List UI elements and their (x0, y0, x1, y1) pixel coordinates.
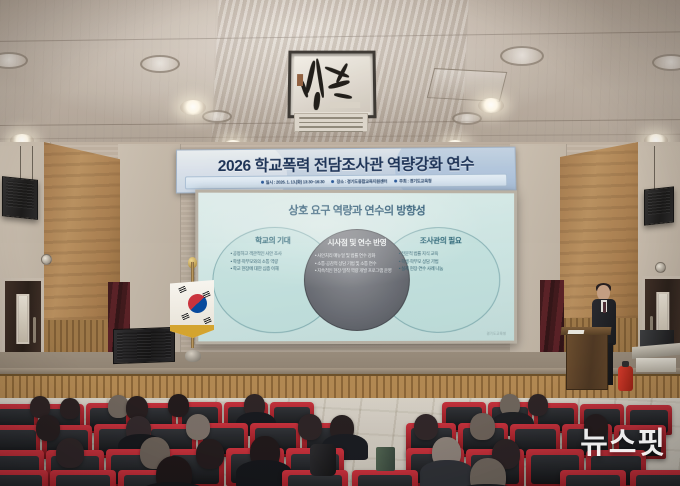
venn-group-investigator-needs: 조사관의 필요 전문적 법률 지식 교육 학생·학부모 상담 기법 실제 현장·… (389, 235, 492, 273)
seat[interactable] (560, 470, 626, 486)
banner-subinfo-host: 주최 : 경기도교육청 (394, 178, 431, 184)
podium-papers (568, 330, 585, 334)
event-banner: 2026 학교폭력 전담조사관 역량강화 연수 일시 : 2026. 1. 13… (176, 147, 517, 194)
venn-title-right: 조사관의 필요 (389, 235, 492, 246)
attendee-shoulders (420, 460, 474, 486)
speaker-wire (654, 146, 655, 190)
downlight-lit-icon (180, 100, 206, 115)
speaker-grille (6, 181, 34, 210)
attendee-bag (310, 444, 336, 476)
wall-fixture-icon (655, 262, 666, 273)
av-equipment-case (636, 358, 676, 372)
wall-fixture-icon (41, 254, 52, 265)
attendee-head (168, 394, 189, 417)
attendee-head (56, 438, 84, 468)
downlight-lit-icon (478, 98, 504, 113)
trash-bin (376, 447, 395, 471)
ceiling (0, 0, 680, 146)
hatch-interior (294, 56, 371, 112)
auditorium-photo: 2026 학교폭력 전담조사관 역량강화 연수 일시 : 2026. 1. 13… (0, 0, 680, 486)
downlight-icon (500, 46, 544, 66)
downlight-icon (202, 110, 232, 123)
door-window (16, 294, 29, 344)
fire-extinguisher-icon (618, 366, 633, 391)
attendee-head (186, 414, 210, 440)
seat[interactable] (50, 470, 116, 486)
downlight-icon (140, 55, 180, 73)
ceiling-speaker-right-icon (644, 186, 674, 225)
slide-footer: 경기도교육청 (486, 331, 506, 336)
ceiling-hatch-label (294, 113, 368, 132)
banner-subinfo-date: 일시 : 2026. 1. 13.(화) 13:30~16:30 (261, 179, 325, 186)
banner-subinfo-place: 장소 : 경기도융합교육지원센터 (332, 178, 388, 184)
watermark: 뉴스핏 (580, 418, 666, 462)
speaker-wire (20, 146, 21, 180)
ceiling-vent-icon (427, 68, 508, 102)
attendee-head (36, 415, 60, 441)
banner-title: 2026 학교폭력 전담조사관 역량강화 연수 (177, 152, 515, 177)
venn-diagram: 학교의 기대 공정하고 객관적인 사안 조사 학생·학부모와의 소통 역량 학교… (198, 227, 514, 332)
attendee-head (196, 439, 224, 469)
door-handle-icon[interactable] (33, 317, 36, 343)
projection-screen: 상호 요구 역량과 연수의 방향성 학교의 기대 공정하고 객관적인 사안 조사… (195, 190, 517, 345)
presenter-head (597, 285, 610, 300)
downlight-icon (452, 112, 482, 125)
ceiling-hatch-icon (287, 51, 376, 119)
attendee-head (528, 394, 548, 416)
podium (566, 332, 608, 390)
slide-surface: 상호 요구 역량과 연수의 방향성 학교의 기대 공정하고 객관적인 사안 조사… (198, 193, 514, 342)
seat[interactable] (0, 470, 48, 486)
slide-title: 상호 요구 역량과 연수의 방향성 (198, 202, 514, 219)
korean-flag (176, 262, 210, 362)
flag-base (185, 350, 201, 362)
seat[interactable] (630, 470, 680, 486)
presenter-tie (603, 302, 606, 313)
seat[interactable] (352, 470, 418, 486)
attendee-head (298, 414, 322, 440)
attendee-head (414, 414, 438, 440)
attendee-head (470, 413, 495, 440)
attendee-head (470, 458, 506, 486)
speaker-wire (32, 146, 33, 180)
venn-bullets-right: 전문적 법률 지식 교육 학생·학부모 상담 기법 실제 현장·연수 사례 나눔 (389, 250, 492, 273)
speaker-grille (117, 331, 171, 360)
speaker-grille (648, 191, 670, 215)
banner-subinfo: 일시 : 2026. 1. 13.(화) 13:30~16:30 장소 : 경기… (185, 174, 507, 190)
attendee-head (60, 398, 80, 419)
ceiling-speaker-left-icon (2, 176, 38, 220)
stage-curtain-right (540, 280, 564, 358)
floor-monitor-speaker-icon (113, 327, 175, 364)
